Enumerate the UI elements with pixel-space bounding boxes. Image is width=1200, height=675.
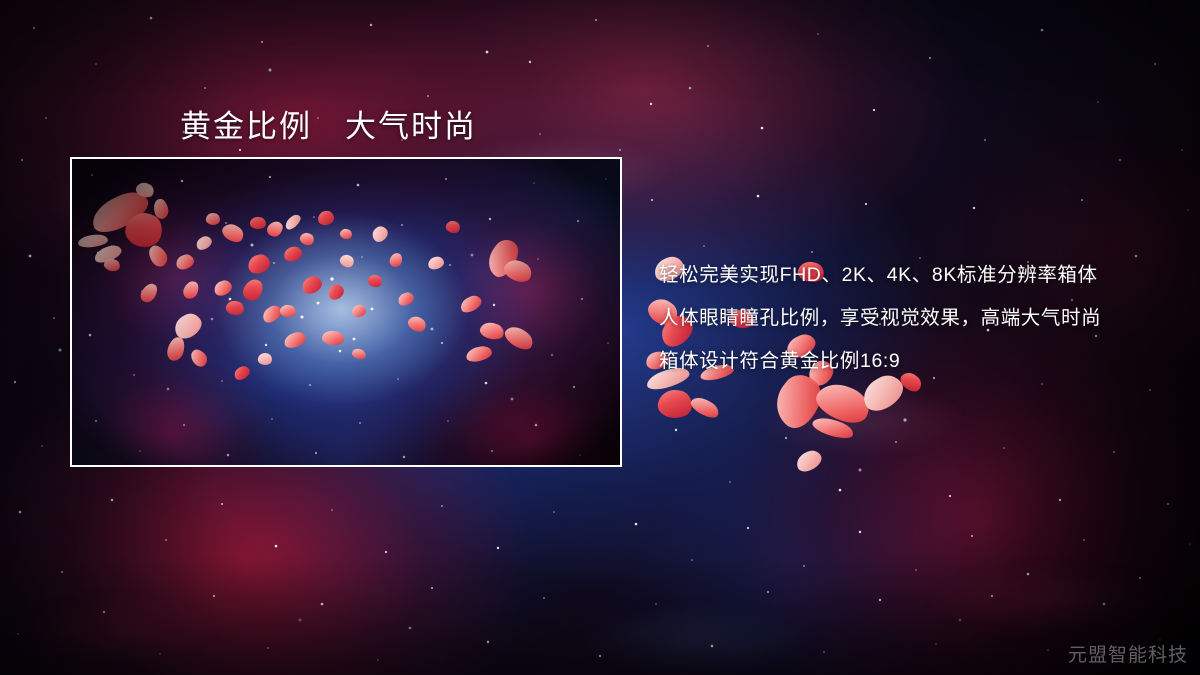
page-title: 黄金比例 大气时尚 [180,101,477,146]
panel-vignette [72,159,620,465]
framed-image-panel [70,157,622,467]
presentation-slide: 黄金比例 大气时尚 [0,0,1200,675]
body-text-block: 轻松完美实现FHD、2K、4K、8K标准分辨率箱体 人体眼睛瞳孔比例，享受视觉效… [659,254,1179,383]
body-line-3: 箱体设计符合黄金比例16:9 [659,340,1179,383]
body-line-1: 轻松完美实现FHD、2K、4K、8K标准分辨率箱体 [659,254,1179,297]
body-line-2: 人体眼睛瞳孔比例，享受视觉效果，高端大气时尚 [659,297,1179,340]
watermark-text: 元盟智能科技 [1068,640,1188,667]
